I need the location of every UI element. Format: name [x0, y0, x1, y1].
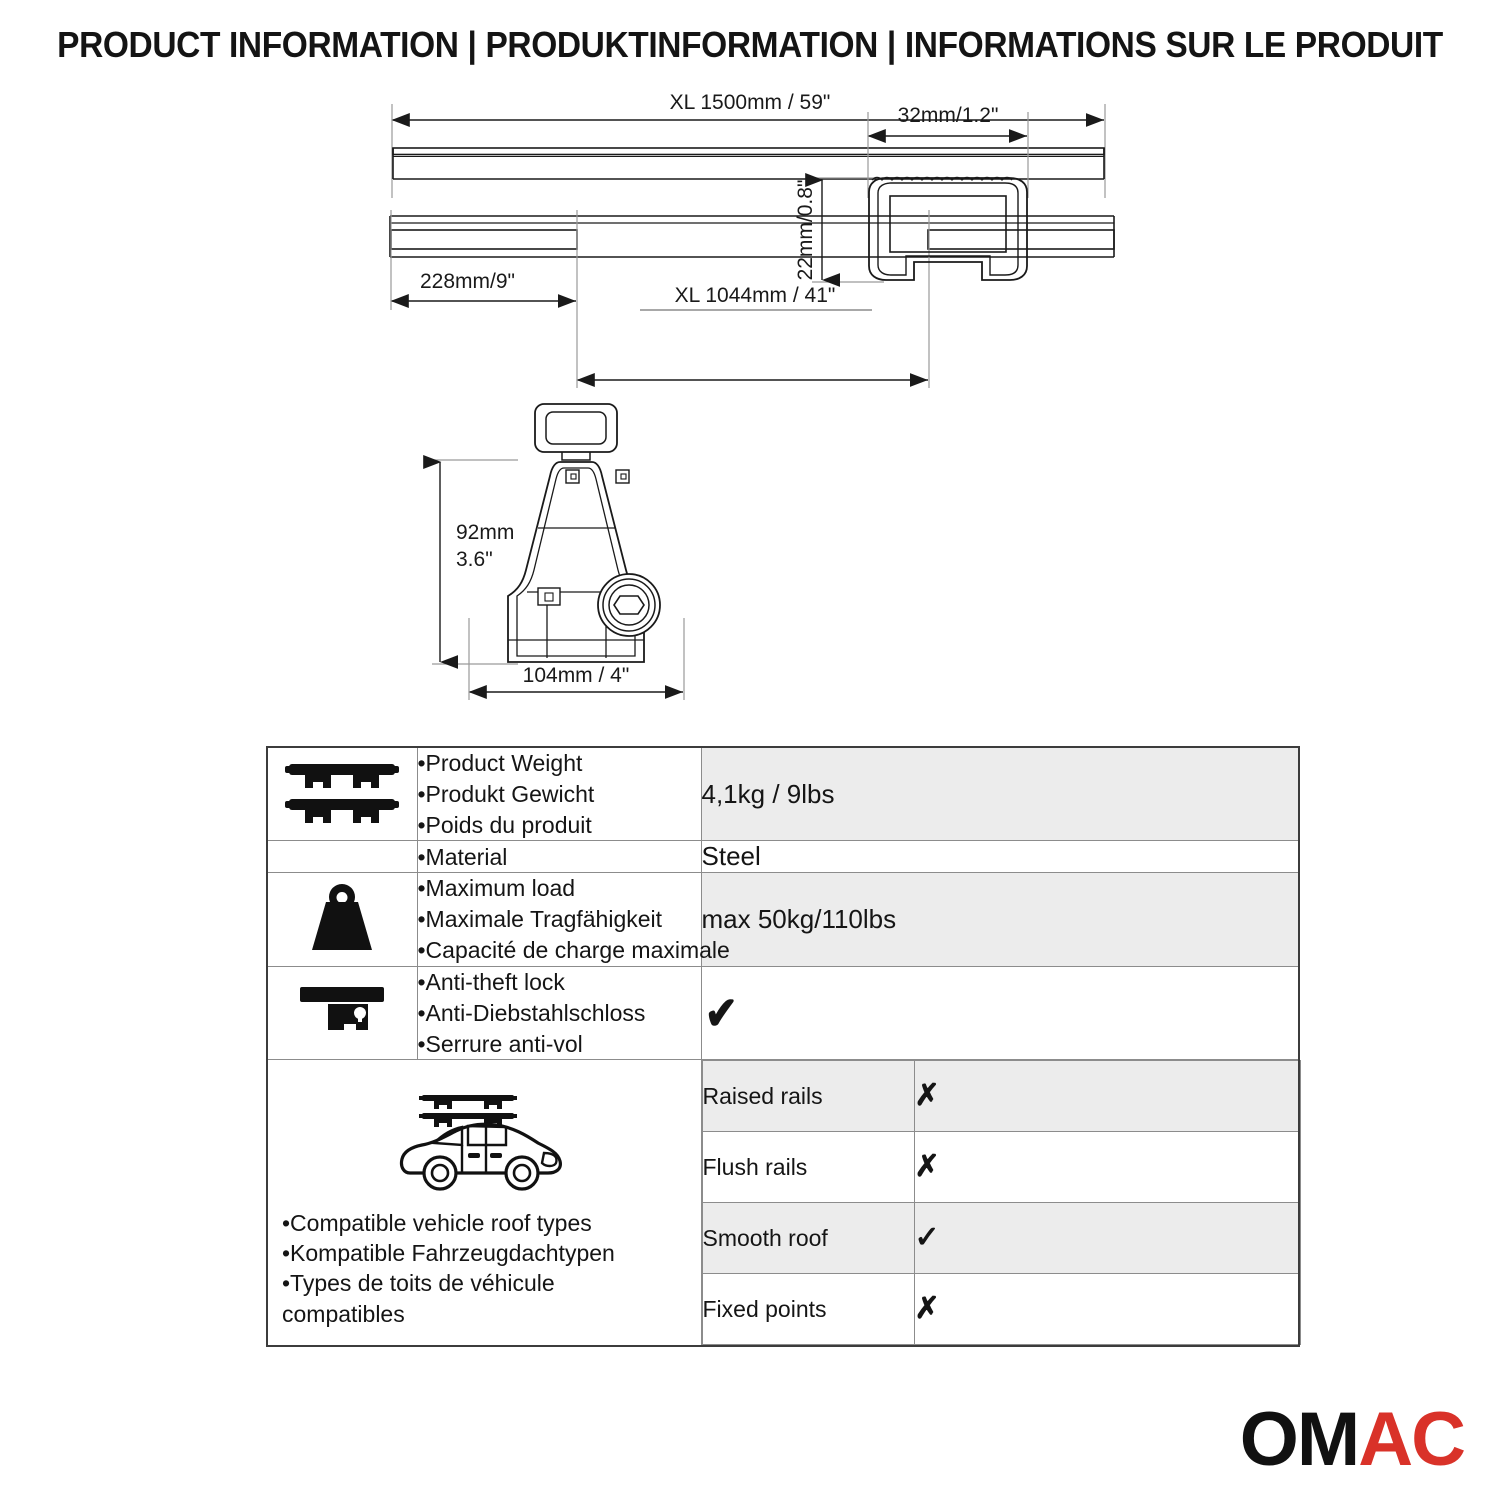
- compatibility-labels: •Compatible vehicle roof types •Kompatib…: [274, 1208, 695, 1329]
- label-line: •Maximale Tragfähigkeit: [418, 904, 701, 935]
- anti-theft-lock-labels: •Anti-theft lock •Anti-Diebstahlschloss …: [417, 966, 701, 1059]
- roof-bar-top-view: [393, 148, 1104, 179]
- car-with-roof-bars-icon: [394, 1087, 574, 1195]
- check-mark-icon: ✔: [704, 986, 737, 1040]
- specification-table: •Product Weight •Produkt Gewicht •Poids …: [266, 746, 1300, 1347]
- product-weight-value: 4,1kg / 9lbs: [701, 747, 1299, 841]
- anti-theft-lock-value: ✔: [701, 966, 1299, 1059]
- label-line: •Anti-Diebstahlschloss: [418, 998, 701, 1029]
- profile-width-label: 32mm/1.2": [898, 104, 999, 127]
- label-line: •Material: [418, 842, 701, 873]
- label-line: •Produkt Gewicht: [418, 779, 701, 810]
- roof-type-name: Fixed points: [702, 1274, 914, 1345]
- bar-length-dimension-label: XL 1500mm / 59": [670, 91, 831, 114]
- maximum-load-labels: •Maximum load •Maximale Tragfähigkeit •C…: [417, 873, 701, 966]
- product-information-page: PRODUCT INFORMATION | PRODUKTINFORMATION…: [0, 0, 1500, 1500]
- table-row: •Product Weight •Produkt Gewicht •Poids …: [267, 747, 1299, 841]
- foot-height-label-line1: 92mm: [456, 521, 514, 544]
- product-weight-labels: •Product Weight •Produkt Gewicht •Poids …: [417, 747, 701, 841]
- roof-bars-icon-cell: [267, 747, 417, 841]
- foot-width-label: 104mm / 4": [523, 664, 630, 687]
- weight-icon: [302, 878, 382, 956]
- roof-type-mark: ✗: [914, 1132, 1300, 1203]
- roof-type-name: Smooth roof: [702, 1203, 914, 1274]
- foot-height-dimension: 92mm 3.6": [432, 460, 518, 664]
- table-row-compatibility: •Compatible vehicle roof types •Kompatib…: [267, 1060, 1299, 1347]
- weight-icon-cell: [267, 873, 417, 966]
- bar-profile-cross-section: 32mm/1.2" 22mm/0.8": [794, 104, 1028, 282]
- material-icon-cell: [267, 841, 417, 873]
- label-line: •Maximum load: [418, 873, 701, 904]
- roof-type-name: Flush rails: [702, 1132, 914, 1203]
- cross-mark-icon: ✗: [915, 1150, 940, 1183]
- table-row: •Material Steel: [267, 841, 1299, 873]
- roof-type-mark: ✗: [914, 1274, 1300, 1345]
- material-value: Steel: [701, 841, 1299, 873]
- roof-types-table: Raised rails ✗ Flush rails ✗: [702, 1060, 1301, 1345]
- profile-height-label: 22mm/0.8": [794, 180, 817, 281]
- table-row: •Maximum load •Maximale Tragfähigkeit •C…: [267, 873, 1299, 966]
- label-line: •Anti-theft lock: [418, 967, 701, 998]
- compatibility-description-cell: •Compatible vehicle roof types •Kompatib…: [267, 1060, 701, 1347]
- table-row: •Anti-theft lock •Anti-Diebstahlschloss …: [267, 966, 1299, 1059]
- label-line: •Capacité de charge maximale: [418, 935, 701, 966]
- roof-bars-icon: [283, 756, 401, 828]
- label-line: compatibles: [282, 1299, 695, 1329]
- foot-offset-dimension-label: 228mm/9": [420, 270, 515, 293]
- foot-height-label-line2: 3.6": [456, 548, 493, 571]
- label-line: •Product Weight: [418, 748, 701, 779]
- roof-type-mark: ✗: [914, 1061, 1300, 1132]
- label-line: •Serrure anti-vol: [418, 1029, 701, 1060]
- roof-type-row: Smooth roof ✓: [702, 1203, 1300, 1274]
- page-title: PRODUCT INFORMATION | PRODUKTINFORMATION…: [53, 24, 1448, 66]
- roof-type-row: Fixed points ✗: [702, 1274, 1300, 1345]
- label-line: •Types de toits de véhicule: [282, 1268, 695, 1298]
- check-mark-icon: ✓: [915, 1221, 940, 1254]
- label-line: •Kompatible Fahrzeugdachtypen: [282, 1238, 695, 1268]
- omac-logo: OMAC: [1240, 1402, 1464, 1478]
- roof-type-row: Flush rails ✗: [702, 1132, 1300, 1203]
- mount-foot-front-view: [508, 404, 660, 662]
- technical-drawing: XL 1500mm / 59": [0, 80, 1500, 740]
- logo-text-black: OM: [1240, 1397, 1358, 1482]
- span-dimension-label: XL 1044mm / 41": [675, 284, 836, 307]
- material-labels: •Material: [417, 841, 701, 873]
- lock-icon-cell: [267, 966, 417, 1059]
- label-line: •Poids du produit: [418, 810, 701, 841]
- roof-type-name: Raised rails: [702, 1061, 914, 1132]
- lock-icon: [294, 979, 390, 1043]
- roof-types-cell: Raised rails ✗ Flush rails ✗: [701, 1060, 1299, 1347]
- roof-type-row: Raised rails ✗: [702, 1061, 1300, 1132]
- cross-mark-icon: ✗: [915, 1079, 940, 1112]
- roof-type-mark: ✓: [914, 1203, 1300, 1274]
- cross-mark-icon: ✗: [915, 1292, 940, 1325]
- maximum-load-value: max 50kg/110lbs: [701, 873, 1299, 966]
- label-line: •Compatible vehicle roof types: [282, 1208, 695, 1238]
- logo-text-red: AC: [1358, 1397, 1464, 1482]
